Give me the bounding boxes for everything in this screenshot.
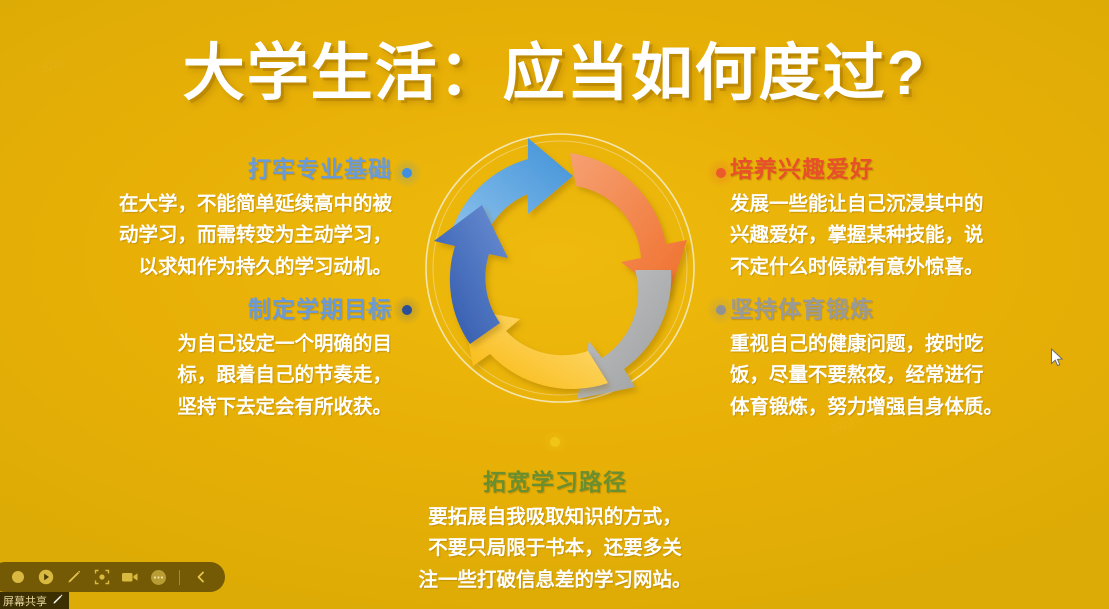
- block-hobby-line-3: 不定什么时候就有意外惊喜。: [730, 252, 1030, 284]
- block-path-body: 要拓展自我吸取知识的方式， 不要只局限于书本，还要多关 注一些打破信息差的学习网…: [405, 502, 705, 597]
- connector-dot: [402, 305, 412, 315]
- block-path-line-3: 注一些打破信息差的学习网站。: [405, 565, 705, 597]
- connector-dot: [716, 168, 726, 178]
- record-dot-icon[interactable]: [6, 565, 30, 589]
- block-major-line-2: 动学习，而需转变为主动学习，: [92, 220, 392, 252]
- block-hobby-line-2: 兴趣爱好，掌握某种技能，说: [730, 220, 1030, 252]
- play-icon[interactable]: [34, 565, 58, 589]
- screen-share-window: 2023 1119 2023 大学生活：应当如何度过?: [0, 0, 1109, 609]
- collapse-chevron-icon[interactable]: [189, 565, 213, 589]
- page-title: 大学生活：应当如何度过?: [0, 22, 1109, 112]
- mouse-cursor: [1050, 348, 1064, 368]
- block-goal-body: 为自己设定一个明确的目 标，跟着自己的节奏走， 坚持下去定会有所收获。: [92, 329, 392, 424]
- cycle-diagram: [410, 118, 710, 418]
- block-path-line-2: 不要只局限于书本，还要多关: [405, 533, 705, 565]
- block-sport: 坚持体育锻炼 重视自己的健康问题，按时吃 饭，尽量不要熬夜，经常进行 体育锻炼，…: [730, 295, 1030, 423]
- block-major-heading: 打牢专业基础: [92, 155, 392, 184]
- connector-line: [366, 309, 392, 311]
- connector-dot: [550, 437, 560, 447]
- connector-path: [540, 432, 570, 452]
- block-goal-line-1: 为自己设定一个明确的目: [92, 329, 392, 361]
- block-major-body: 在大学，不能简单延续高中的被 动学习，而需转变为主动学习， 以求知作为持久的学习…: [92, 189, 392, 284]
- block-path: 拓宽学习路径 要拓展自我吸取知识的方式， 不要只局限于书本，还要多关 注一些打破…: [405, 468, 705, 596]
- block-hobby-line-1: 发展一些能让自己沉浸其中的: [730, 189, 1030, 221]
- connector-halo: [706, 295, 736, 325]
- block-sport-body: 重视自己的健康问题，按时吃 饭，尽量不要熬夜，经常进行 体育锻炼，努力增强自身体…: [730, 329, 1030, 424]
- camera-icon[interactable]: [118, 565, 142, 589]
- connector-halo: [392, 295, 422, 325]
- more-options-icon[interactable]: [146, 565, 170, 589]
- connector-major: [366, 163, 422, 183]
- connector-line: [736, 309, 762, 311]
- block-major-line-1: 在大学，不能简单延续高中的被: [92, 189, 392, 221]
- block-sport-heading: 坚持体育锻炼: [730, 295, 1030, 324]
- share-pencil-icon[interactable]: [52, 594, 63, 608]
- block-goal-heading: 制定学期目标: [92, 295, 392, 324]
- screen-share-toolbar[interactable]: [0, 562, 225, 592]
- annotate-pencil-icon[interactable]: [62, 565, 86, 589]
- connector-line: [736, 172, 762, 174]
- block-hobby: 培养兴趣爱好 发展一些能让自己沉浸其中的 兴趣爱好，掌握某种技能，说 不定什么时…: [730, 155, 1030, 283]
- toolbar-divider: [179, 570, 180, 585]
- block-hobby-heading: 培养兴趣爱好: [730, 155, 1030, 184]
- screen-share-status-label: 屏幕共享: [0, 592, 69, 609]
- block-goal: 制定学期目标 为自己设定一个明确的目 标，跟着自己的节奏走， 坚持下去定会有所收…: [92, 295, 392, 423]
- block-goal-line-3: 坚持下去定会有所收获。: [92, 392, 392, 424]
- connector-sport: [706, 300, 762, 320]
- connector-dot: [716, 305, 726, 315]
- connector-goal: [366, 300, 422, 320]
- connector-line: [366, 172, 392, 174]
- connector-halo: [392, 158, 422, 188]
- block-hobby-body: 发展一些能让自己沉浸其中的 兴趣爱好，掌握某种技能，说 不定什么时候就有意外惊喜…: [730, 189, 1030, 284]
- connector-halo: [706, 158, 736, 188]
- block-goal-line-2: 标，跟着自己的节奏走，: [92, 360, 392, 392]
- block-path-heading: 拓宽学习路径: [405, 468, 705, 497]
- connector-dot: [402, 168, 412, 178]
- block-major: 打牢专业基础 在大学，不能简单延续高中的被 动学习，而需转变为主动学习， 以求知…: [92, 155, 392, 283]
- block-path-line-1: 要拓展自我吸取知识的方式，: [405, 502, 705, 534]
- capture-region-icon[interactable]: [90, 565, 114, 589]
- block-major-line-3: 以求知作为持久的学习动机。: [92, 252, 392, 284]
- block-sport-line-2: 饭，尽量不要熬夜，经常进行: [730, 360, 1030, 392]
- block-sport-line-1: 重视自己的健康问题，按时吃: [730, 329, 1030, 361]
- share-label-text: 屏幕共享: [3, 593, 47, 609]
- connector-halo: [540, 432, 570, 452]
- block-sport-line-3: 体育锻炼，努力增强自身体质。: [730, 392, 1030, 424]
- connector-hobby: [706, 163, 762, 183]
